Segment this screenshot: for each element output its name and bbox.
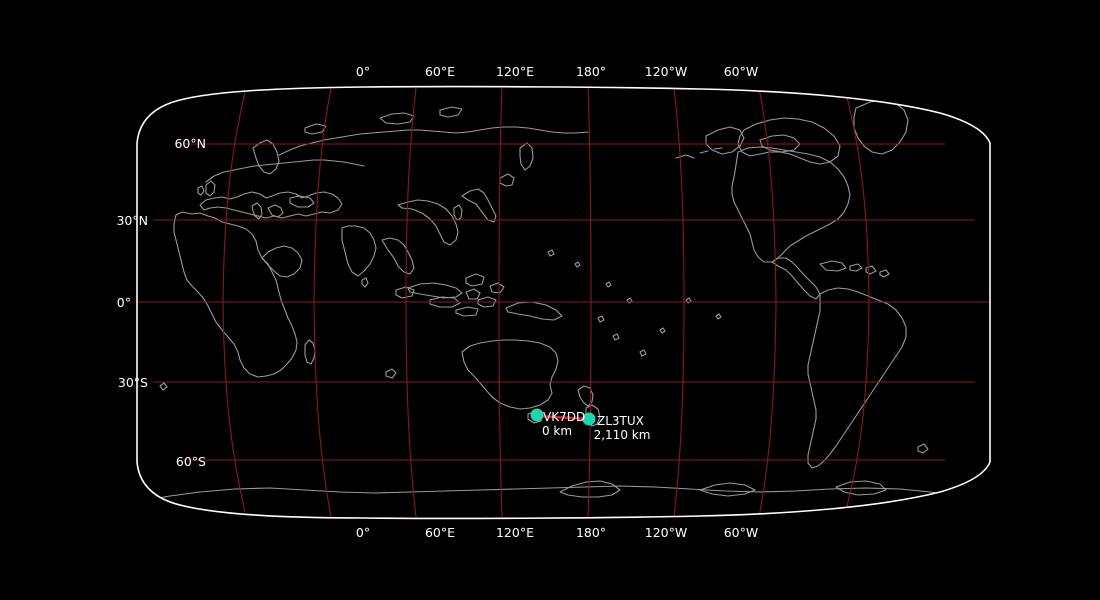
lon-tick-bottom-1: 60°E — [425, 525, 455, 540]
lat-tick-0: 0° — [117, 295, 131, 310]
map-figure: Robinson Projection QE38 to RE66HO (104°… — [0, 0, 1100, 600]
lat-tick-60N: 60°N — [174, 136, 206, 151]
station-callsign-zl3tux: ZL3TUX — [597, 414, 644, 428]
lon-tick-top-0: 0° — [356, 64, 370, 79]
station-distance-vk7dd: 0 km — [542, 424, 572, 438]
lon-tick-bottom-0: 0° — [356, 525, 370, 540]
station-callsign-vk7dd: VK7DD — [543, 410, 585, 424]
lon-tick-top-1: 60°E — [425, 64, 455, 79]
lon-tick-top-3: 180° — [576, 64, 606, 79]
lon-tick-bottom-4: 120°W — [645, 525, 687, 540]
lat-tick-30N: 30°N — [116, 213, 148, 228]
map-background — [0, 0, 1100, 600]
lon-tick-bottom-5: 60°W — [724, 525, 759, 540]
station-distance-zl3tux: 2,110 km — [594, 428, 651, 442]
lon-tick-top-5: 60°W — [724, 64, 759, 79]
lat-tick-30S: 30°S — [118, 375, 148, 390]
lon-tick-top-2: 120°E — [496, 64, 534, 79]
lon-tick-bottom-3: 180° — [576, 525, 606, 540]
station-marker-vk7dd[interactable] — [531, 409, 544, 422]
world-map: VK7DD 0 km ZL3TUX 2,110 km 0° 60°E 120°E… — [0, 0, 1100, 600]
lon-tick-top-4: 120°W — [645, 64, 687, 79]
lon-tick-bottom-2: 120°E — [496, 525, 534, 540]
lat-tick-60S: 60°S — [176, 454, 206, 469]
